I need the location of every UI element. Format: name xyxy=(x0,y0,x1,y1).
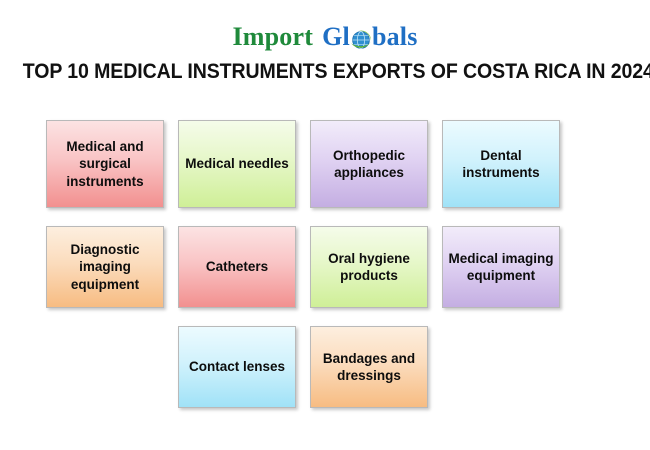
grid-cell: Contact lenses xyxy=(178,326,296,408)
category-box-medical-and-surgical-instruments[interactable]: Medical and surgical instruments xyxy=(46,120,164,208)
grid-cell: Catheters xyxy=(178,226,296,308)
grid-cell: Orthopedic appliances xyxy=(310,120,428,208)
category-box-dental-instruments[interactable]: Dental instruments xyxy=(442,120,560,208)
import-globals-logo: Import Gl bals xyxy=(232,22,417,52)
category-box-catheters[interactable]: Catheters xyxy=(178,226,296,308)
grid-cell: Dental instruments xyxy=(442,120,560,208)
grid-cell: Medical needles xyxy=(178,120,296,208)
grid-cell: Bandages and dressings xyxy=(310,326,428,408)
category-box-medical-needles[interactable]: Medical needles xyxy=(178,120,296,208)
grid-cell-empty xyxy=(46,326,164,408)
grid-row-1: Medical and surgical instruments Medical… xyxy=(46,120,606,208)
grid-cell-empty xyxy=(442,326,560,408)
grid-cell: Oral hygiene products xyxy=(310,226,428,308)
logo-text-bals: bals xyxy=(372,22,418,52)
grid-cell: Medical and surgical instruments xyxy=(46,120,164,208)
logo-area: Import Gl bals xyxy=(0,0,650,52)
logo-text-gl: Gl xyxy=(322,22,350,52)
category-box-bandages-and-dressings[interactable]: Bandages and dressings xyxy=(310,326,428,408)
page-title: TOP 10 MEDICAL INSTRUMENTS EXPORTS OF CO… xyxy=(23,60,628,84)
category-box-oral-hygiene-products[interactable]: Oral hygiene products xyxy=(310,226,428,308)
grid-cell: Medical imaging equipment xyxy=(442,226,560,308)
logo-text-import: Import xyxy=(232,22,313,52)
category-box-diagnostic-imaging-equipment[interactable]: Diagnostic imaging equipment xyxy=(46,226,164,308)
globe-icon xyxy=(350,28,372,50)
grid-row-3: Contact lenses Bandages and dressings xyxy=(46,326,606,408)
grid-row-2: Diagnostic imaging equipment Catheters O… xyxy=(46,226,606,308)
category-box-contact-lenses[interactable]: Contact lenses xyxy=(178,326,296,408)
category-box-medical-imaging-equipment[interactable]: Medical imaging equipment xyxy=(442,226,560,308)
category-grid: Medical and surgical instruments Medical… xyxy=(46,120,606,426)
category-box-orthopedic-appliances[interactable]: Orthopedic appliances xyxy=(310,120,428,208)
grid-cell: Diagnostic imaging equipment xyxy=(46,226,164,308)
